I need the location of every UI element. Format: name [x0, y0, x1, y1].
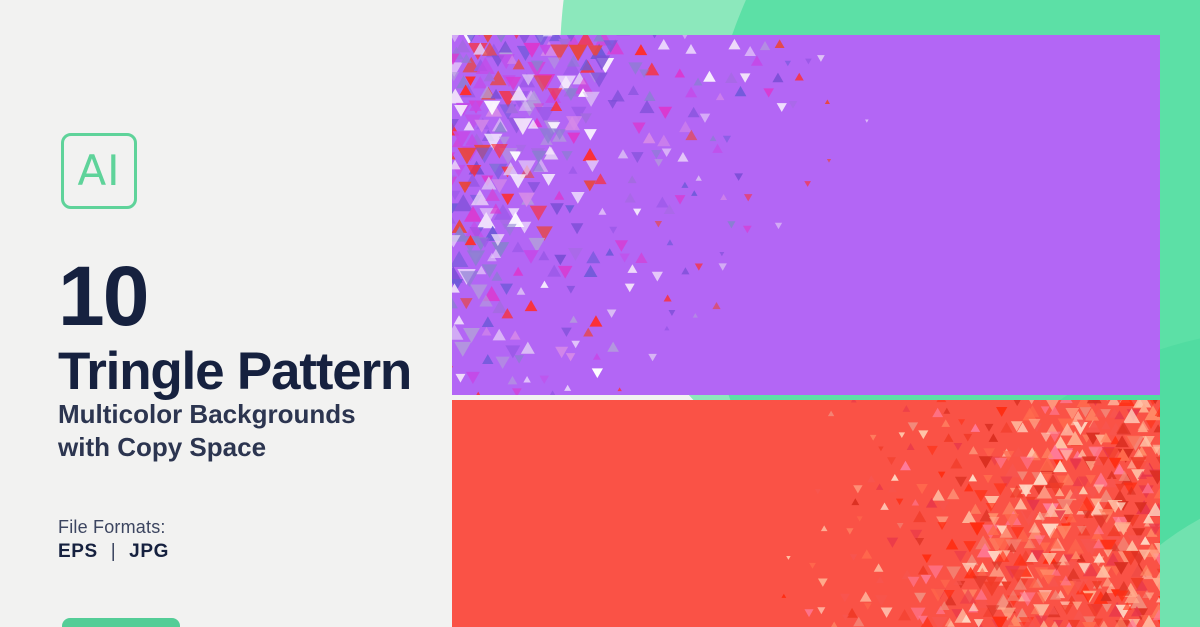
triangle-pattern-purple-preview[interactable]	[452, 35, 1160, 395]
page-subtitle: Multicolor Backgrounds with Copy Space	[58, 398, 356, 464]
red-triangle-field	[452, 400, 1160, 627]
file-formats-value: EPS | JPG	[58, 541, 169, 563]
subtitle-line-2: with Copy Space	[58, 431, 356, 464]
file-formats-label: File Formats:	[58, 517, 166, 538]
format-jpg: JPG	[129, 541, 169, 562]
promo-banner: AI 10 Tringle Pattern Multicolor Backgro…	[0, 0, 1200, 627]
ai-badge-label: AI	[77, 150, 120, 192]
info-column: AI 10 Tringle Pattern Multicolor Backgro…	[0, 0, 452, 627]
format-separator: |	[104, 541, 124, 562]
subtitle-line-1: Multicolor Backgrounds	[58, 398, 356, 431]
purple-triangle-field	[452, 35, 1160, 395]
item-count: 10	[58, 258, 147, 335]
ai-format-badge: AI	[61, 133, 137, 209]
cta-button[interactable]	[62, 618, 180, 627]
format-eps: EPS	[58, 541, 98, 562]
page-title: Tringle Pattern	[58, 345, 411, 398]
triangle-pattern-red-preview[interactable]	[452, 400, 1160, 627]
